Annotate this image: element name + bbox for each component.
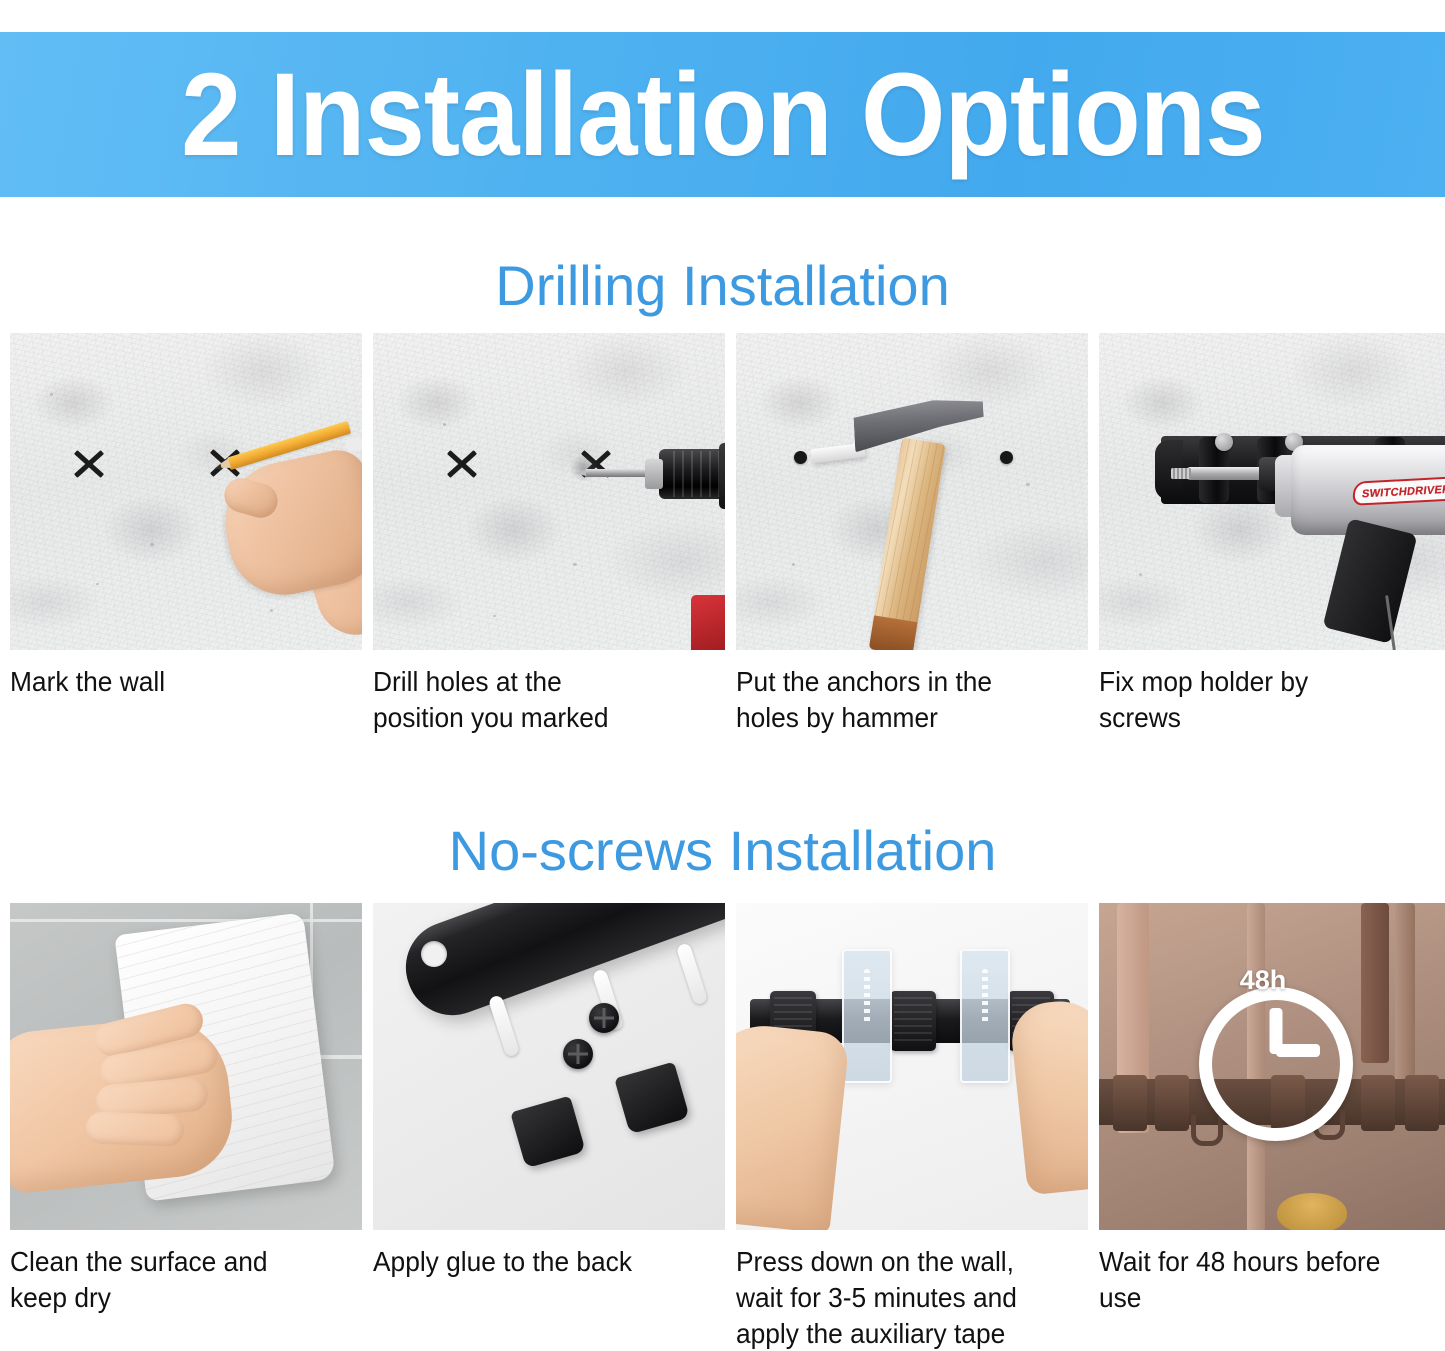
step-card-drill-holes: Drill holes at the position you marked: [373, 333, 725, 736]
step-card-fix-by-screws: SWITCHDRIVER Fix mop holder by screws: [1099, 333, 1445, 736]
step-card-wait-48-hours: 48h Wait for 48 hours before use: [1099, 903, 1445, 1351]
step-caption: Clean the surface and keep dry: [10, 1244, 361, 1316]
step-card-put-anchors: Put the anchors in the holes by hammer: [736, 333, 1088, 736]
header-banner: 2 Installation Options: [0, 32, 1445, 197]
section-title-drilling: Drilling Installation: [0, 253, 1445, 318]
photo-put-anchors: [736, 333, 1088, 650]
step-card-mark-the-wall: Mark the wall: [10, 333, 362, 736]
wall-speck: [270, 609, 273, 612]
step-caption: Press down on the wall, wait for 3-5 min…: [736, 1244, 1087, 1351]
wall-speck: [1139, 573, 1142, 576]
step-caption: Apply glue to the back: [373, 1244, 724, 1280]
photo-wait-48-hours: 48h: [1099, 903, 1445, 1230]
holder-clip: [1361, 1075, 1395, 1131]
clock-minute-hand: [1276, 1044, 1320, 1057]
mounting-hole: [421, 941, 447, 967]
holder-clip: [1113, 1075, 1147, 1131]
brand-label-text: SWITCHDRIVER: [1361, 484, 1445, 501]
phillips-screw: [563, 1039, 593, 1069]
tool-handle: [1361, 903, 1389, 1063]
x-mark-left: [72, 447, 106, 481]
page-title: 2 Installation Options: [181, 56, 1265, 174]
photo-clean-surface: [10, 903, 362, 1230]
drilled-hole-left: [794, 451, 807, 464]
wall-speck: [1026, 483, 1030, 486]
wall-speck: [573, 563, 577, 566]
section-title-no-screws: No-screws Installation: [0, 818, 1445, 883]
wall-speck: [443, 423, 446, 426]
drill-chuck-ribs: [673, 451, 725, 497]
drill-battery: [691, 595, 725, 650]
brand-label: SWITCHDRIVER: [1352, 476, 1445, 506]
photo-press-on-wall: [736, 903, 1088, 1230]
step-caption: Drill holes at the position you marked: [373, 664, 724, 736]
clock-icon: [1199, 987, 1353, 1141]
photo-mark-the-wall: [10, 333, 362, 650]
tool-handle: [1395, 903, 1415, 1103]
holder-clip: [1405, 1075, 1439, 1131]
photo-drill-holes: [373, 333, 725, 650]
drill-body: [719, 443, 725, 509]
step-caption: Wait for 48 hours before use: [1099, 1244, 1445, 1316]
holder-hook: [1191, 1115, 1223, 1146]
mop-head: [1277, 1193, 1347, 1230]
wall-speck: [792, 563, 795, 566]
drilling-steps-row: Mark the wall Drill holes at the positio…: [10, 333, 1440, 736]
x-mark-left: [445, 447, 479, 481]
no-screws-steps-row: Clean the surface and keep dry Apply glu…: [10, 903, 1440, 1351]
wall-speck: [150, 543, 154, 546]
photo-apply-glue: [373, 903, 725, 1230]
step-caption: Put the anchors in the holes by hammer: [736, 664, 1087, 736]
clock-duration-label: 48h: [1240, 965, 1287, 996]
photo-fix-by-screws: SWITCHDRIVER: [1099, 333, 1445, 650]
wall-speck: [493, 615, 496, 617]
wall-speck: [50, 393, 53, 396]
wall-speck: [96, 583, 99, 585]
holder-clip: [1155, 1075, 1189, 1131]
step-card-press-on-wall: Press down on the wall, wait for 3-5 min…: [736, 903, 1088, 1351]
finger: [85, 1111, 184, 1146]
step-caption: Mark the wall: [10, 664, 361, 700]
step-card-clean-surface: Clean the surface and keep dry: [10, 903, 362, 1351]
phillips-screw: [589, 1003, 619, 1033]
step-card-apply-glue: Apply glue to the back: [373, 903, 725, 1351]
holder-gripper: [890, 991, 936, 1051]
drilled-hole-right: [1000, 451, 1013, 464]
auxiliary-tape-strip: [842, 949, 892, 1083]
bracket-screw: [1215, 433, 1233, 451]
auxiliary-tape-strip: [960, 949, 1010, 1083]
drill-dust: [569, 455, 599, 481]
step-caption: Fix mop holder by screws: [1099, 664, 1445, 736]
